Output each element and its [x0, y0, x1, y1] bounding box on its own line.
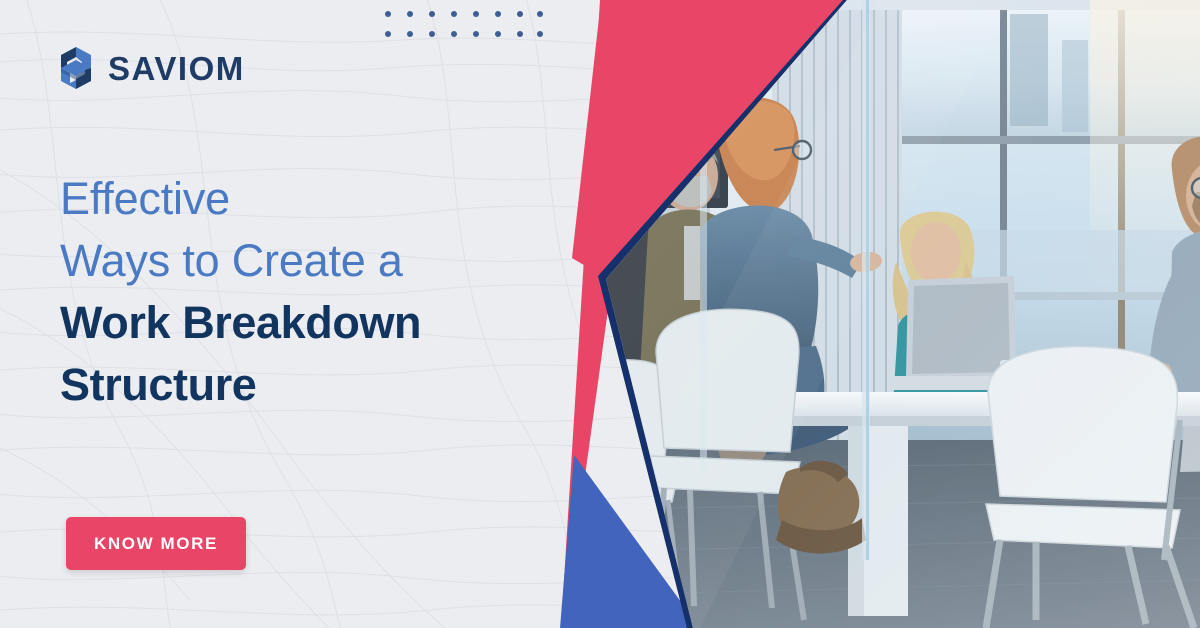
- dot-grid-pattern-icon: [384, 10, 544, 44]
- brand-name: SAVIOM: [108, 52, 245, 85]
- saviom-s-cube-logo-icon: [58, 44, 94, 92]
- headline-line-3: Work Breakdown: [60, 292, 530, 354]
- headline-line-1: Effective: [60, 168, 530, 230]
- headline: Effective Ways to Create a Work Breakdow…: [60, 168, 530, 416]
- headline-line-2: Ways to Create a: [60, 230, 530, 292]
- know-more-button[interactable]: KNOW MORE: [66, 517, 246, 570]
- banner: SAVIOM Effective Ways to Create a Work B…: [0, 0, 1200, 628]
- headline-line-4: Structure: [60, 354, 530, 416]
- brand-logo[interactable]: SAVIOM: [58, 44, 245, 92]
